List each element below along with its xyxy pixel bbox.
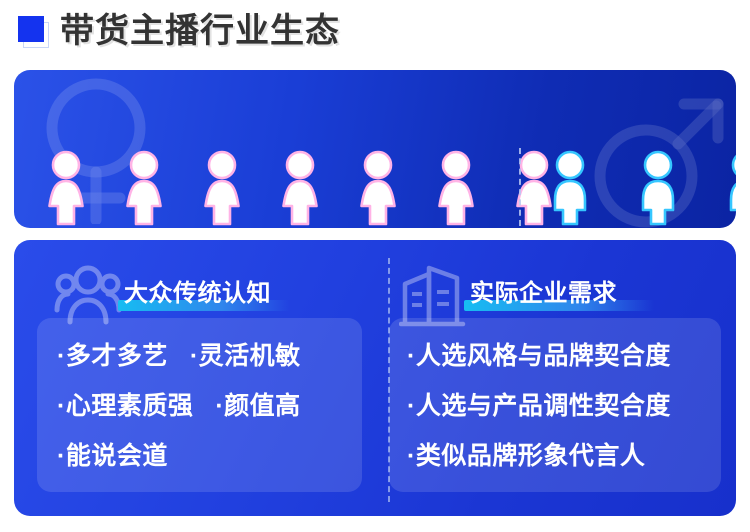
vertical-dashed-divider xyxy=(519,148,521,226)
square-marker-icon xyxy=(18,16,48,46)
female-person-icon xyxy=(196,150,248,226)
items-container-public-perception: ·多才多艺 ·灵活机敏 ·心理素质强 ·颜值高 ·能说会道 xyxy=(37,318,362,492)
item-row: ·类似品牌形象代言人 xyxy=(407,436,645,472)
square-marker-fill xyxy=(18,16,44,42)
items-container-enterprise-demand: ·人选风格与品牌契合度 ·人选与产品调性契合度 ·类似品牌形象代言人 xyxy=(389,318,721,492)
heading-text: 实际企业需求 xyxy=(470,273,617,308)
comparison-panel: 大众传统认知 ·多才多艺 ·灵活机敏 ·心理素质强 ·颜值高 ·能说会道 xyxy=(14,240,736,516)
female-person-icon xyxy=(118,150,170,226)
female-person-icon xyxy=(40,150,92,226)
item-row: ·能说会道 xyxy=(57,436,168,472)
item-row: ·人选与产品调性契合度 xyxy=(407,386,671,422)
list-item: ·人选风格与品牌契合度 xyxy=(407,336,671,372)
female-person-icon xyxy=(430,150,482,226)
list-item: ·灵活机敏 xyxy=(190,336,301,372)
list-item: ·多才多艺 xyxy=(57,336,168,372)
people-group-icon xyxy=(54,264,122,326)
list-item: ·心理素质强 xyxy=(57,386,193,422)
column-enterprise-demand: 实际企业需求 ·人选风格与品牌契合度 ·人选与产品调性契合度 ·类似品牌形象代言… xyxy=(375,240,736,516)
column-heading-enterprise-demand: 实际企业需求 xyxy=(470,268,617,312)
list-item: ·颜值高 xyxy=(215,386,300,422)
female-person-icon xyxy=(352,150,404,226)
male-person-icon xyxy=(632,150,684,226)
female-person-icon xyxy=(274,150,326,226)
list-item: ·能说会道 xyxy=(57,436,168,472)
page-title: 带货主播行业生态 xyxy=(60,14,340,48)
item-row: ·心理素质强 ·颜值高 xyxy=(57,386,301,422)
list-item: ·类似品牌形象代言人 xyxy=(407,436,645,472)
male-person-icon xyxy=(544,150,596,226)
gender-ratio-panel: 女性主播占比70%以上 xyxy=(14,70,736,228)
column-public-perception: 大众传统认知 ·多才多艺 ·灵活机敏 ·心理素质强 ·颜值高 ·能说会道 xyxy=(14,240,375,516)
list-item: ·人选与产品调性契合度 xyxy=(407,386,671,422)
heading-text: 大众传统认知 xyxy=(124,273,271,308)
female-figure-group xyxy=(40,150,560,226)
page-title-bar: 带货主播行业生态 xyxy=(0,0,750,62)
item-row: ·人选风格与品牌契合度 xyxy=(407,336,671,372)
item-row: ·多才多艺 ·灵活机敏 xyxy=(57,336,301,372)
column-heading-public-perception: 大众传统认知 xyxy=(124,268,271,312)
male-figure-group xyxy=(544,150,736,226)
male-person-icon xyxy=(720,150,736,226)
